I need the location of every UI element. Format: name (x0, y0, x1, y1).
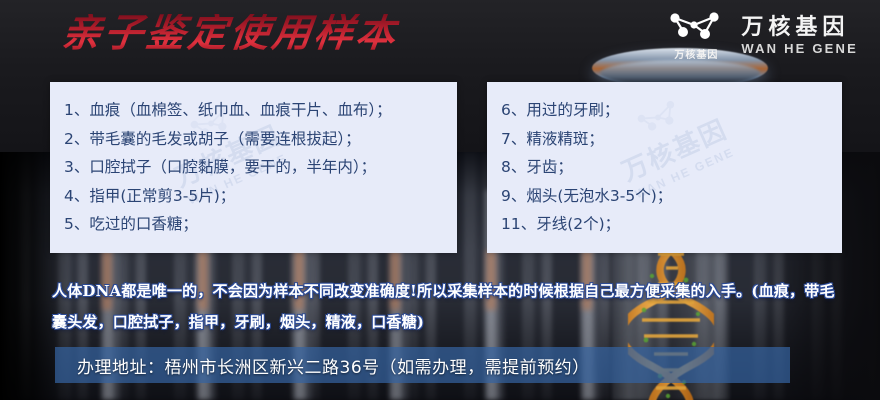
page-title: 亲子鉴定使用样本 (60, 14, 401, 53)
list-item: 1、血痕（血棉签、纸巾血、血痕干片、血布）； (64, 96, 457, 125)
logo-mark: 万核基因 (667, 10, 725, 61)
logo-name-cn: 万核基因 (741, 17, 858, 39)
list-item: 2、带毛囊的毛发或胡子（需要连根拔起）； (64, 125, 457, 154)
sample-list-right: 6、用过的牙刷； 7、精液精斑； 8、牙齿； 9、烟头(无泡水3-5个)； 11… (487, 82, 842, 239)
logo-wordmark: 万核基因 WAN HE GENE (741, 17, 858, 55)
sample-list-panel-right: 万核基因 WAN HE GENE 6、用过的牙刷； 7、精液精斑； 8、牙齿； … (487, 82, 842, 253)
list-item: 7、精液精斑； (501, 125, 842, 154)
address-bar: 办理地址：梧州市长洲区新兴二路36号（如需办理，需提前预约） (55, 347, 790, 383)
list-item: 5、吃过的口香糖； (64, 210, 457, 239)
note-paragraph: 人体DNA都是唯一的，不会因为样本不同改变准确度!所以采集样本的时候根据自己最方… (52, 276, 842, 338)
list-item: 6、用过的牙刷； (501, 96, 842, 125)
logo-name-en: WAN HE GENE (741, 42, 858, 55)
molecule-nodes-icon (667, 10, 725, 44)
poster-root: 亲子鉴定使用样本 万核基因 (0, 0, 880, 400)
logo-mark-caption: 万核基因 (674, 46, 718, 61)
list-item: 9、烟头(无泡水3-5个)； (501, 182, 842, 211)
list-item: 3、口腔拭子（口腔黏膜，要干的，半年内）； (64, 153, 457, 182)
brand-logo: 万核基因 万核基因 WAN HE GENE (667, 10, 858, 61)
sample-list-panel-left: 万核基因 WAN HE GENE 1、血痕（血棉签、纸巾血、血痕干片、血布）； … (50, 82, 457, 253)
list-item: 11、牙线(2个)； (501, 210, 842, 239)
address-text: 办理地址：梧州市长洲区新兴二路36号（如需办理，需提前预约） (55, 353, 590, 378)
sample-list-left: 1、血痕（血棉签、纸巾血、血痕干片、血布）； 2、带毛囊的毛发或胡子（需要连根拔… (50, 82, 457, 239)
list-item: 4、指甲(正常剪3-5片)； (64, 182, 457, 211)
list-item: 8、牙齿； (501, 153, 842, 182)
